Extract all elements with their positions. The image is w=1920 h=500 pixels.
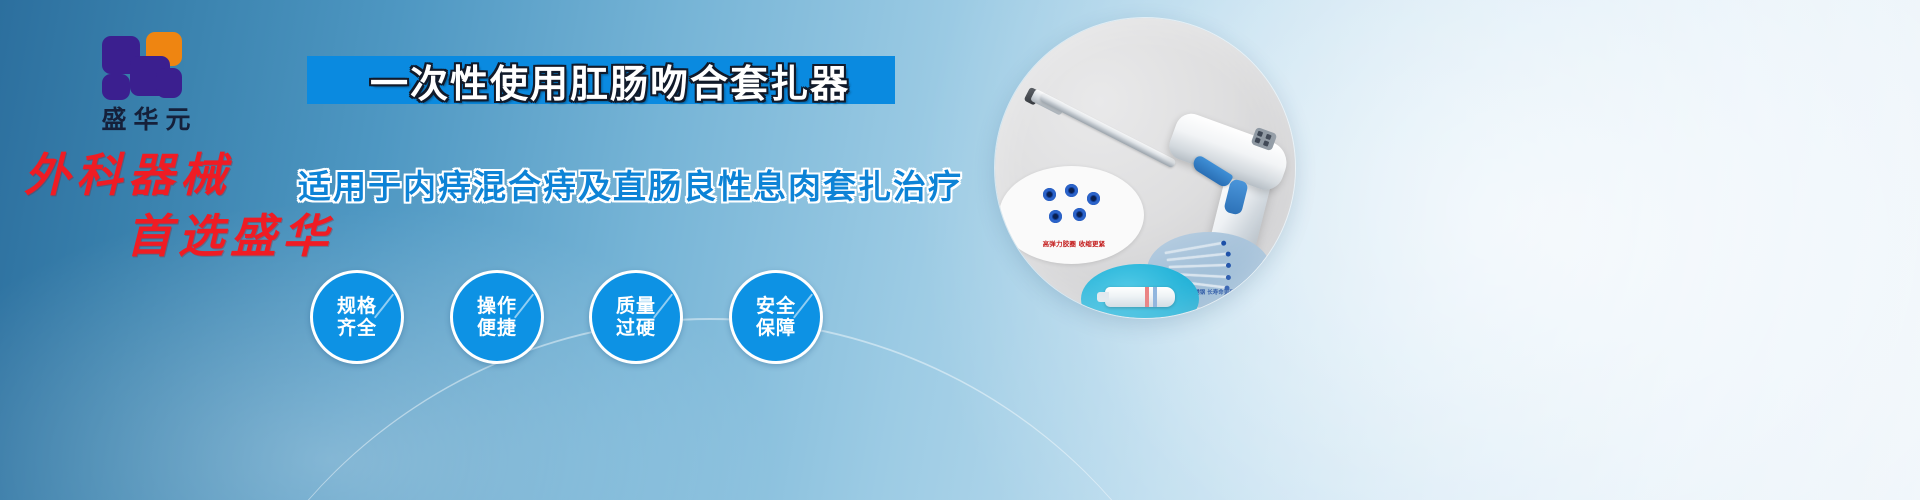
logo-square-purple-3 [102,74,130,100]
product-photo: 高弹力胶圈 收缩更紧 进口不锈钢 长寿命更耐用 [995,18,1295,318]
rubber-rings-inset: 高弹力胶圈 收缩更紧 [999,166,1144,264]
feature-badge-line-2: 齐全 [337,317,377,339]
feature-badge-operation[interactable]: 操作 便捷 [450,270,544,364]
feature-badge-line-1: 质量 [616,295,656,317]
feature-badge-quality[interactable]: 质量 过硬 [589,270,683,364]
rubber-ring-icon [1049,210,1062,223]
rubber-rings-label: 高弹力胶圈 收缩更紧 [1015,238,1133,248]
needle-icon [1169,264,1229,268]
needle-icon [1167,253,1229,261]
feature-badge-list: 规格 齐全 操作 便捷 质量 过硬 安全 保障 [310,270,850,375]
cartridge-tip [1097,292,1109,302]
brand-name: 盛华元 [56,106,236,134]
feature-badge-line-2: 保障 [756,317,796,339]
cartridge-icon [1105,287,1175,307]
page-title: 一次性使用肛肠吻合套扎器 [330,54,890,106]
feature-badge-specifications[interactable]: 规格 齐全 [310,270,404,364]
rubber-ring-icon [1065,184,1078,197]
cartridge-band [1145,287,1149,307]
device-shaft [1039,92,1177,168]
brand-logo: 盛华元 [56,28,236,134]
feature-badge-safety[interactable]: 安全 保障 [729,270,823,364]
rubber-ring-icon [1073,208,1086,221]
feature-badge-line-2: 便捷 [477,317,517,339]
needle-icon [1165,242,1224,254]
rubber-ring-icon [1087,192,1100,205]
feature-badge-line-1: 规格 [337,295,377,317]
logo-square-purple-4 [156,68,182,98]
feature-badge-line-1: 安全 [756,295,796,317]
feature-badge-line-1: 操作 [477,295,517,317]
cartridge-band [1153,287,1157,307]
page-subtitle: 适用于内痔混合痔及直肠良性息肉套扎治疗 [298,160,898,208]
feature-badge-line-2: 过硬 [616,317,656,339]
promo-banner: 盛华元 外科器械 首选盛华 一次性使用肛肠吻合套扎器 适用于内痔混合痔及直肠良性… [0,0,1920,500]
rubber-ring-icon [1043,188,1056,201]
logo-mark-icon [100,28,192,102]
calligraphy-line-2: 首选盛华 [126,211,348,262]
